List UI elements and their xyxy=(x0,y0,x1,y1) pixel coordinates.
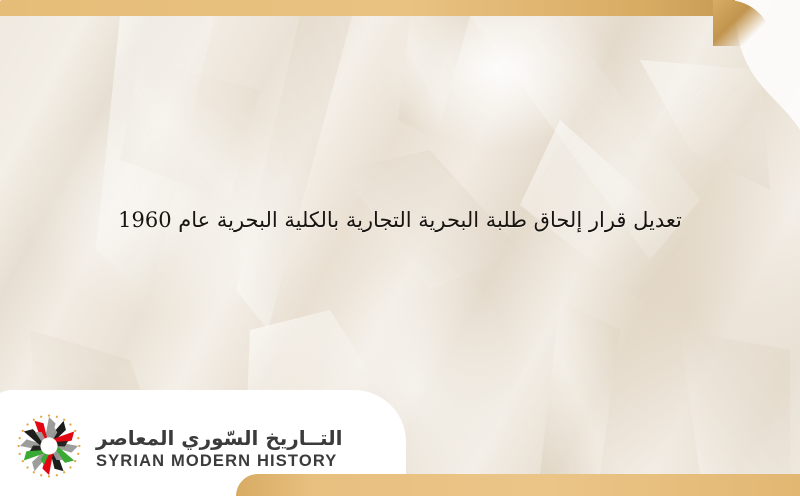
page-title: تعديل قرار إلحاق طلبة البحرية التجارية ب… xyxy=(118,206,682,234)
headline-container: تعديل قرار إلحاق طلبة البحرية التجارية ب… xyxy=(0,196,800,244)
logo-wordmark: التــاريخ السّوري المعاصر SYRIAN MODERN … xyxy=(96,428,343,470)
logo-english-name: SYRIAN MODERN HISTORY xyxy=(96,453,337,470)
history-card: تعديل قرار إلحاق طلبة البحرية التجارية ب… xyxy=(0,0,800,496)
gold-bar-top xyxy=(0,0,735,16)
rosette-emblem-icon xyxy=(16,413,82,484)
site-logo[interactable]: التــاريخ السّوري المعاصر SYRIAN MODERN … xyxy=(16,413,343,484)
logo-arabic-name: التــاريخ السّوري المعاصر xyxy=(96,428,343,448)
